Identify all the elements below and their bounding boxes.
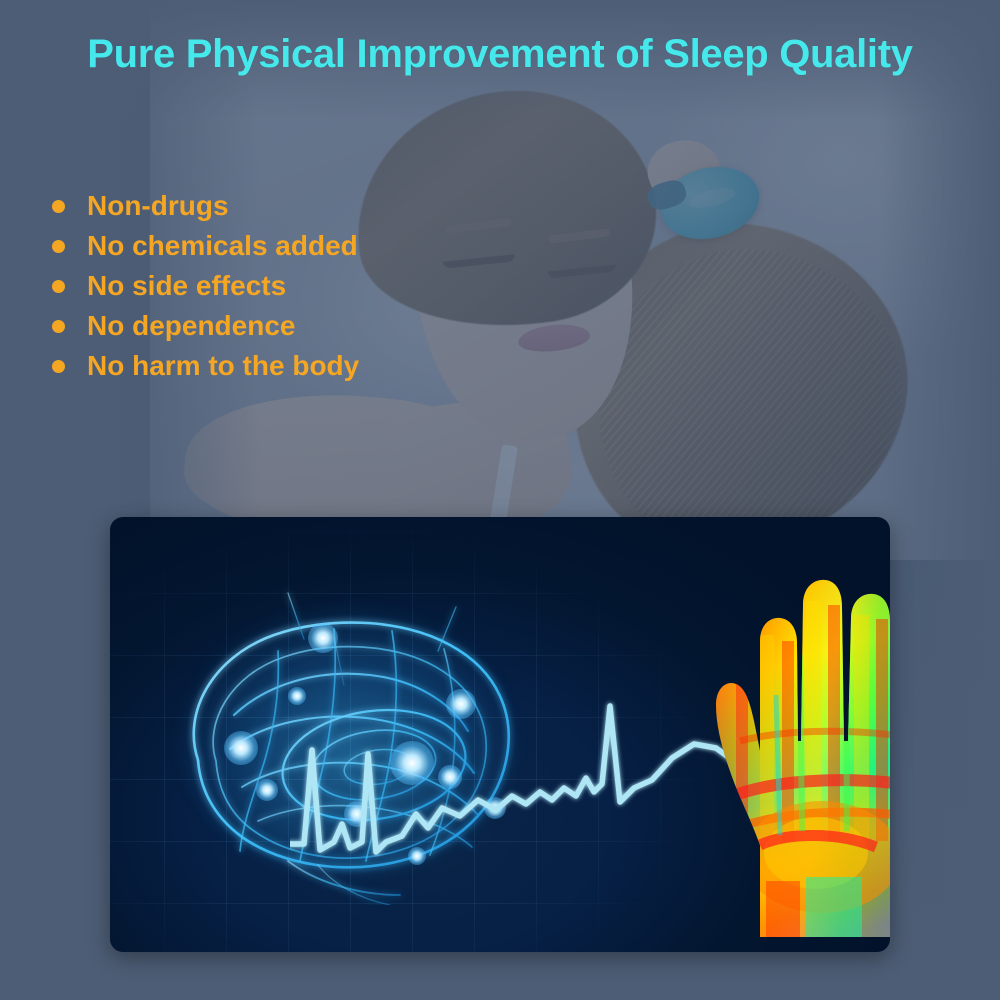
list-item: No dependence [52,306,359,346]
poster: Pure Physical Improvement of Sleep Quali… [0,0,1000,1000]
thermal-hand-icon [610,545,890,952]
list-item: No side effects [52,266,359,306]
bullet-dot-icon [52,200,65,213]
bullet-dot-icon [52,280,65,293]
brain-node [224,731,258,765]
bullet-dot-icon [52,360,65,373]
list-item: No harm to the body [52,346,359,386]
benefit-label: Non-drugs [87,192,229,220]
page-title: Pure Physical Improvement of Sleep Quali… [0,32,1000,77]
benefit-label: No harm to the body [87,352,359,380]
brain-node [308,623,338,653]
thermal-hand-graphic [610,545,890,952]
bullet-dot-icon [52,240,65,253]
brain-node [256,779,278,801]
benefits-list: Non-drugs No chemicals added No side eff… [52,186,359,386]
benefit-label: No chemicals added [87,232,358,260]
list-item: No chemicals added [52,226,359,266]
bullet-dot-icon [52,320,65,333]
benefit-label: No dependence [87,312,295,340]
list-item: Non-drugs [52,186,359,226]
technology-panel [110,517,890,952]
benefit-label: No side effects [87,272,286,300]
